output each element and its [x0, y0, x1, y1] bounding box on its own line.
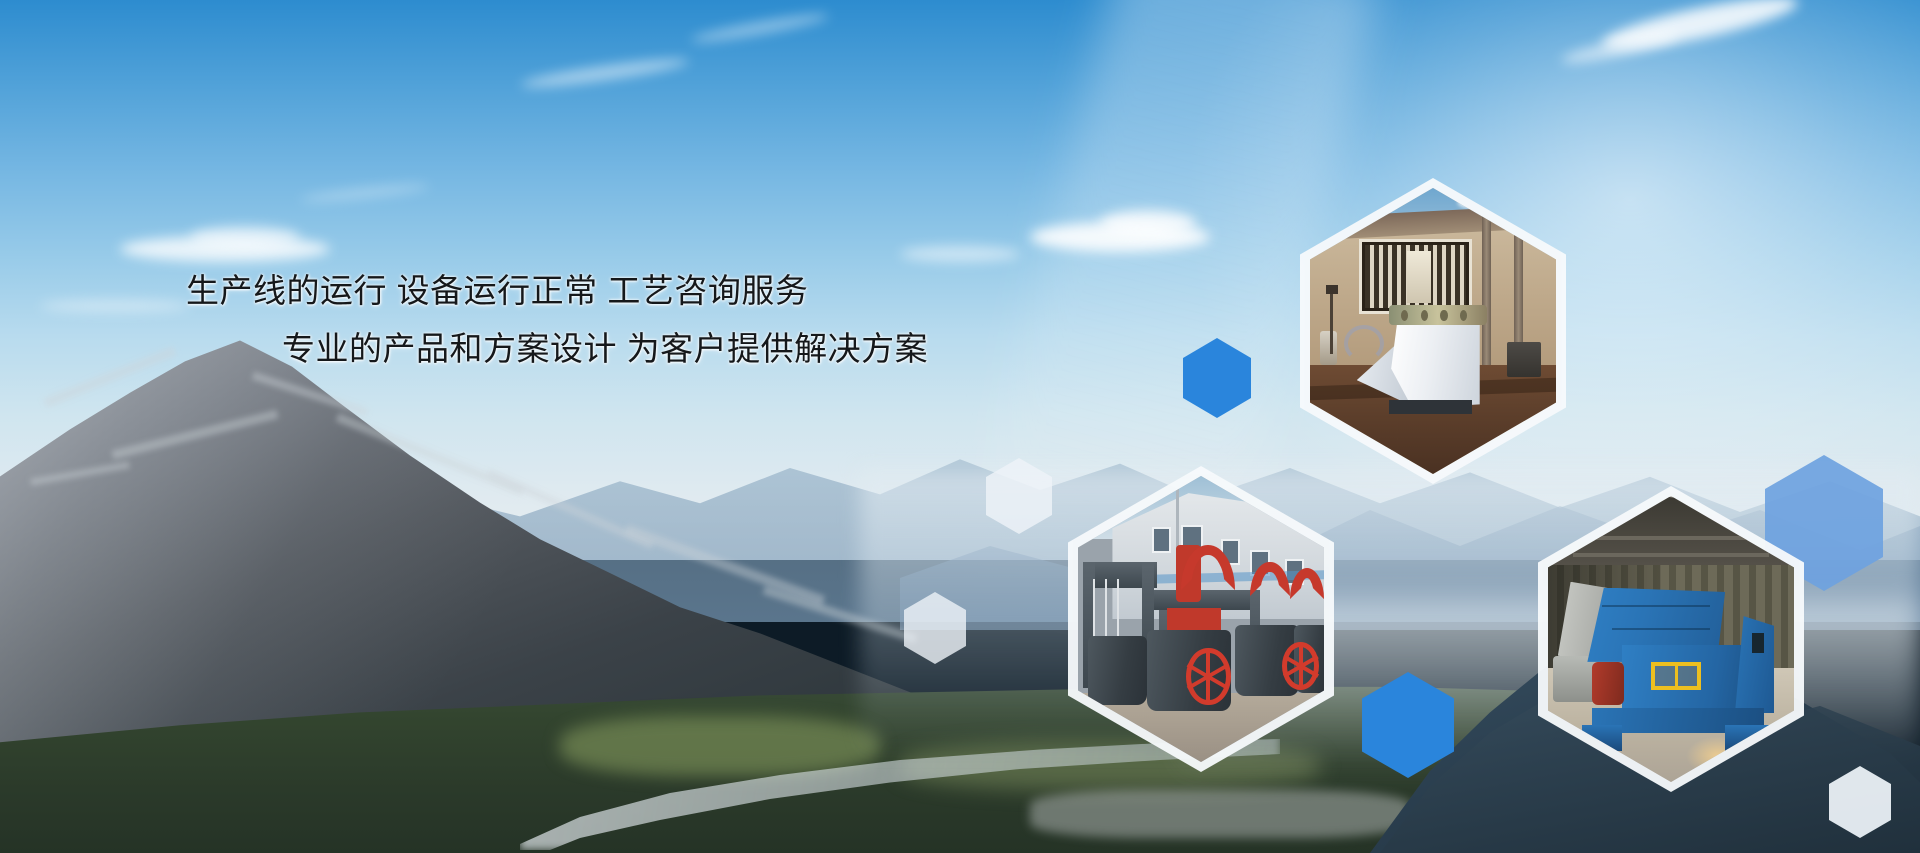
handwheel-spoke: [1283, 655, 1318, 678]
meadow: [560, 716, 880, 776]
barred-window: [1359, 239, 1472, 313]
cloud: [900, 246, 1020, 262]
post: [1330, 291, 1333, 354]
factory-window: [1152, 527, 1172, 553]
guide-rail: [1117, 579, 1119, 642]
red-handwheel: [1186, 648, 1230, 705]
cloud: [40, 300, 190, 312]
headline-line-1: 生产线的运行 设备运行正常 工艺咨询服务: [186, 262, 946, 320]
casting-vessel: [1088, 636, 1147, 705]
photo-blue-machine: [1548, 496, 1794, 782]
crate: [1507, 342, 1541, 376]
drum: [1320, 331, 1337, 365]
ladle-base: [1389, 400, 1473, 414]
hex-photo-blue-image: [1548, 496, 1794, 782]
post-cap: [1326, 285, 1338, 294]
red-panel: [1167, 608, 1221, 634]
hex-photo-grey-image: [1078, 476, 1324, 762]
guide-rail: [1105, 579, 1107, 642]
cloud: [190, 226, 300, 248]
yellow-guard-bar: [1675, 662, 1678, 691]
rim-bolt: [1421, 310, 1428, 321]
cabinet-window: [1752, 633, 1764, 653]
town: [1030, 790, 1410, 838]
roof-beam: [1573, 553, 1770, 557]
banner-headline: 生产线的运行 设备运行正常 工艺咨询服务 专业的产品和方案设计 为客户提供解决方…: [186, 262, 946, 378]
roof-beam: [1563, 536, 1779, 540]
hopper-ridge: [1612, 628, 1710, 630]
handwheel-spoke: [1187, 663, 1230, 690]
photo-grey-machines: [1078, 476, 1324, 762]
photo-ladle: [1310, 188, 1556, 474]
cloud: [1100, 210, 1196, 236]
rim-bolt: [1440, 310, 1447, 321]
red-motor: [1592, 662, 1624, 705]
hex-photo-ladle-image: [1310, 188, 1556, 474]
hero-banner: 生产线的运行 设备运行正常 工艺咨询服务 专业的产品和方案设计 为客户提供解决方…: [0, 0, 1920, 853]
hose: [1344, 325, 1383, 362]
headline-line-2: 专业的产品和方案设计 为客户提供解决方案: [186, 320, 946, 378]
window-pane: [1407, 251, 1431, 303]
guide-rail: [1093, 579, 1095, 642]
building-column: [1482, 205, 1491, 382]
grey-lower-unit: [1553, 656, 1597, 702]
hopper-ridge: [1602, 605, 1710, 607]
